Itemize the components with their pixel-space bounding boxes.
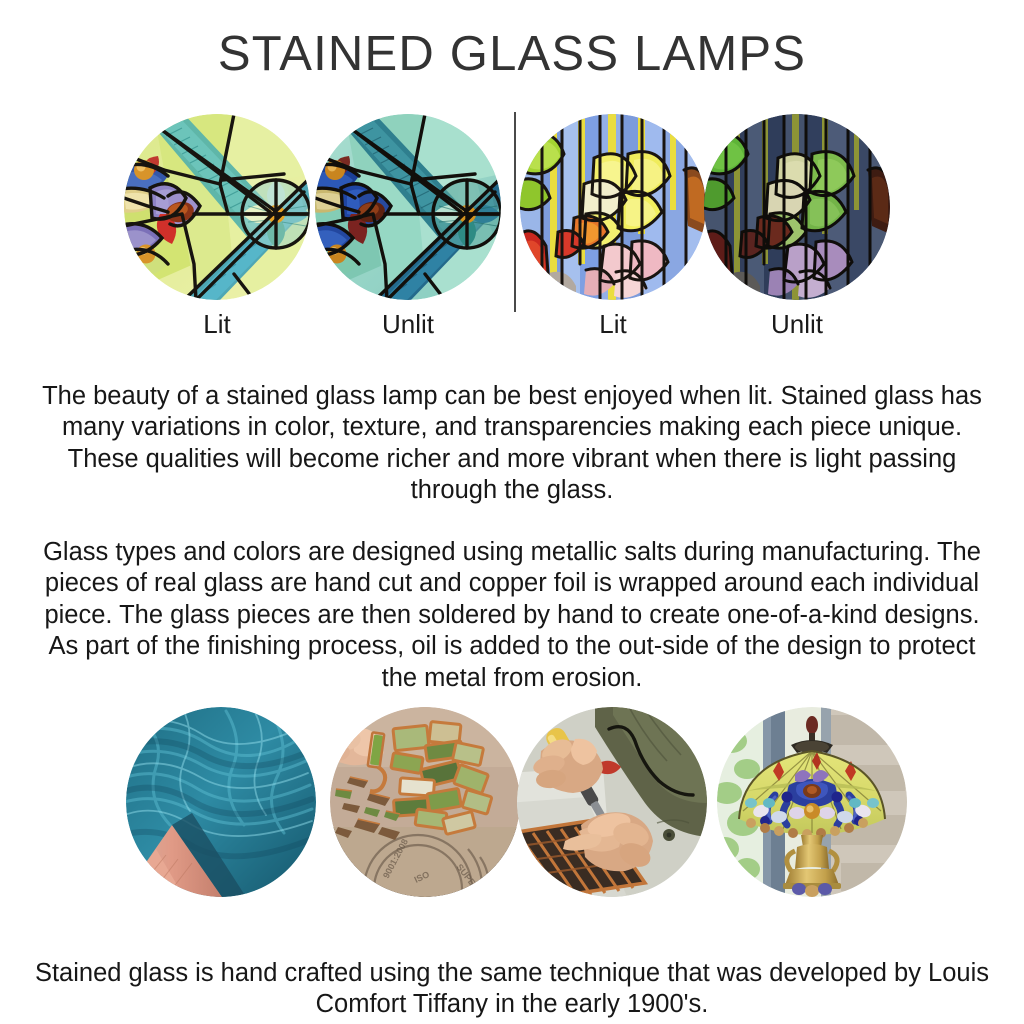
process-photo-row: 9001:2008 ISO SUPER QU: [0, 707, 1024, 899]
caption-lit-1: Lit: [117, 308, 317, 340]
comparison-divider: [514, 112, 516, 312]
footer-tiffany-attribution: Stained glass is hand crafted using the …: [32, 958, 992, 1021]
lit-unlit-comparison-row: [0, 113, 1024, 303]
caption-unlit-2: Unlit: [697, 308, 897, 340]
stained-glass-fan-pattern-lit-image: [124, 114, 310, 300]
hand-soldering-glass-image: [517, 707, 707, 897]
stained-glass-floral-panel-lit-image: [520, 114, 706, 300]
blue-marbled-glass-sheet-image: [126, 707, 316, 897]
caption-unlit-1: Unlit: [308, 308, 508, 340]
caption-lit-2: Lit: [513, 308, 713, 340]
stained-glass-fan-pattern-unlit-image: [315, 114, 501, 300]
paragraph-glass-manufacturing-process: Glass types and colors are designed usin…: [32, 537, 992, 695]
paragraph-beauty-of-stained-glass: The beauty of a stained glass lamp can b…: [32, 381, 992, 507]
stained-glass-floral-panel-unlit-image: [704, 114, 890, 300]
comparison-caption-row: Lit Unlit Lit Unlit: [0, 308, 1024, 342]
page-title: STAINED GLASS LAMPS: [0, 26, 1024, 82]
finished-tiffany-lamp-image: [717, 707, 907, 897]
copper-foiling-glass-pieces-image: 9001:2008 ISO SUPER QU: [330, 707, 520, 897]
